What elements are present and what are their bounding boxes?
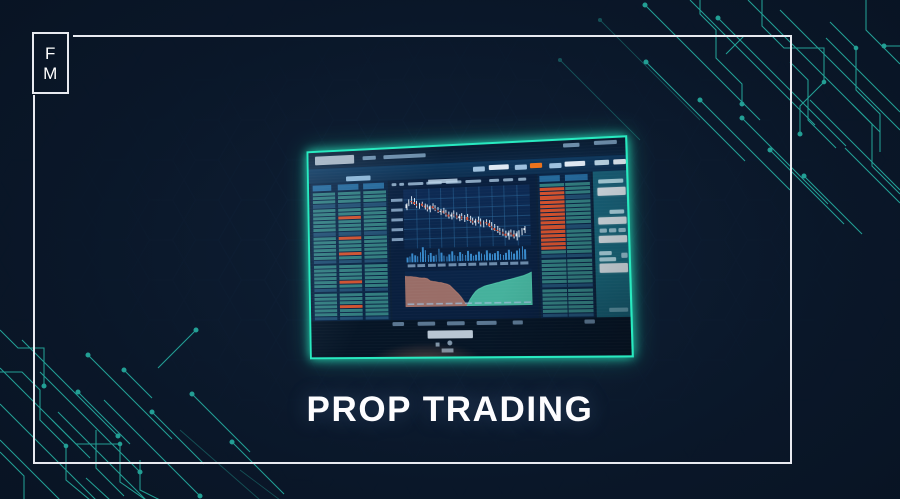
candlestick-body (507, 233, 509, 236)
candlestick-body (502, 232, 504, 234)
order-book-row (567, 245, 592, 249)
volume-bar (457, 256, 459, 261)
x-axis-tick-label (500, 262, 508, 265)
order-book-row (365, 272, 388, 276)
volume-bar (505, 252, 507, 260)
candlestick-body (485, 222, 487, 223)
order-book-row (365, 300, 388, 303)
volume-bar (486, 251, 488, 261)
order-quantity-input[interactable] (598, 216, 627, 224)
ticker-value-change (530, 163, 542, 169)
order-book-row (315, 313, 337, 316)
order-book-row (315, 297, 337, 300)
candlestick-body (437, 210, 439, 212)
candlestick-body (513, 235, 515, 237)
order-book-row (568, 279, 593, 283)
order-book-row (339, 260, 362, 264)
candlestick-body (411, 201, 412, 202)
order-book-column (540, 183, 568, 323)
order-book-row (568, 297, 593, 301)
order-book-row (340, 301, 363, 304)
area-x-tick-label (484, 302, 491, 304)
positions-panel[interactable] (311, 317, 632, 359)
ticker-value (564, 161, 585, 167)
order-book-right[interactable] (537, 172, 595, 318)
volume-bar (446, 256, 448, 261)
order-book-row (314, 277, 336, 281)
order-book-row (568, 288, 593, 292)
order-book-row (568, 284, 593, 288)
area-x-tick-label (514, 301, 521, 303)
order-book-row (567, 237, 592, 241)
order-book-row (314, 269, 336, 273)
x-axis-tick-label (448, 263, 456, 266)
candlestick-body (458, 216, 460, 218)
order-book-column (338, 191, 363, 325)
order-book-row (365, 276, 388, 280)
order-book-column-header (313, 185, 332, 192)
order-book-row (340, 284, 363, 288)
order-preset-button[interactable] (600, 228, 607, 232)
order-book-row (314, 289, 336, 292)
ticker-label (515, 164, 527, 170)
positions-tab[interactable] (584, 319, 595, 323)
candlestick-body (440, 211, 441, 212)
order-book-row (340, 313, 363, 316)
candlestick-body (416, 203, 418, 206)
order-book-row (543, 297, 568, 301)
area-x-tick-label (494, 302, 501, 304)
candlestick-body (475, 220, 477, 222)
order-book-row (314, 253, 336, 257)
area-x-tick-label (436, 303, 443, 305)
positions-search-input[interactable] (428, 330, 473, 339)
order-book-row (340, 289, 363, 292)
order-book-row (542, 284, 567, 288)
volume-chart (404, 243, 531, 263)
order-book-row (543, 310, 568, 314)
x-axis-tick-label (510, 262, 518, 265)
order-book-row (569, 309, 594, 313)
volume-bar (519, 248, 521, 259)
ticker-label (473, 166, 485, 172)
order-book-row (364, 251, 387, 255)
candlestick-body (413, 202, 414, 204)
volume-bar (441, 253, 443, 262)
order-book-row (541, 255, 566, 259)
candlestick-body (432, 207, 434, 209)
order-book-row (340, 293, 363, 296)
order-book-row (365, 288, 388, 292)
order-book-row (541, 246, 566, 250)
cumulative-area-chart[interactable] (405, 268, 533, 307)
price-chart-panel[interactable] (390, 174, 539, 320)
x-axis-tick-label (458, 263, 466, 266)
order-book-column (565, 182, 594, 323)
x-axis-tick-label (479, 262, 487, 265)
order-book-row (315, 305, 337, 308)
area-x-tick-label (524, 301, 531, 303)
ticker-value (489, 164, 509, 170)
candlestick-body (488, 223, 490, 226)
y-axis-tick-label (391, 208, 403, 211)
volume-bar (511, 252, 513, 260)
order-book-row (340, 309, 363, 312)
volume-bar (497, 251, 499, 260)
volume-bar (433, 256, 435, 262)
volume-bar (409, 256, 411, 262)
area-x-tick-label (455, 303, 462, 305)
volume-bar (451, 252, 453, 262)
order-book-row (365, 296, 388, 299)
order-book-column (363, 190, 388, 325)
volume-bar (430, 253, 432, 262)
order-book-row (339, 268, 362, 272)
volume-bar (414, 255, 416, 262)
order-book-row (541, 242, 566, 246)
candlestick-body (461, 216, 463, 219)
page-title: PROP TRADING (0, 390, 900, 430)
candlestick-body (477, 220, 479, 221)
volume-bar (454, 255, 456, 261)
area-x-tick-label (465, 302, 472, 304)
fm-logo: F M (32, 32, 69, 94)
order-book-column-header (363, 183, 384, 190)
volume-bar (513, 253, 515, 259)
order-book-row (365, 268, 388, 272)
order-info-button[interactable] (621, 253, 627, 258)
area-x-tick-label (475, 302, 482, 304)
volume-bar (407, 257, 409, 262)
order-book-row (567, 250, 592, 254)
fm-logo-letter-m: M (43, 65, 58, 82)
volume-bar (465, 255, 467, 261)
chart-interval-button[interactable] (518, 178, 526, 182)
order-book-row (365, 259, 388, 263)
order-book-row (568, 301, 593, 305)
order-book-row (340, 305, 363, 308)
order-book-row (339, 264, 362, 268)
order-book-row (315, 301, 337, 304)
order-panel-title (598, 179, 623, 184)
area-x-tick-label (427, 303, 434, 305)
x-axis-tick-label (418, 264, 426, 267)
volume-bar (484, 255, 486, 261)
order-book-row (364, 255, 387, 259)
x-axis-tick-label (438, 263, 446, 266)
y-axis-tick-label (392, 228, 404, 231)
candlestick-body (445, 213, 447, 215)
candlestick-body (421, 204, 422, 206)
order-book-row (314, 281, 336, 285)
submit-order-button[interactable] (599, 263, 628, 273)
volume-bar (425, 251, 427, 262)
terminal-menu-item (594, 140, 617, 145)
volume-bar (412, 254, 414, 263)
candlestick-body (426, 208, 427, 210)
positions-tab[interactable] (418, 322, 436, 326)
volume-bar (438, 249, 440, 262)
order-book-row (542, 276, 567, 280)
order-preset-button[interactable] (618, 228, 625, 232)
order-book-row (543, 301, 568, 305)
volume-bar (500, 254, 502, 260)
order-book-row (567, 258, 592, 262)
order-book-row (543, 305, 568, 309)
order-summary-label (599, 251, 612, 255)
candlestick-body (419, 204, 420, 206)
order-book-row (339, 272, 362, 276)
order-book-column-header (539, 175, 560, 182)
candlestick-body (434, 208, 436, 210)
candlestick-body (456, 215, 458, 218)
volume-bar (435, 254, 437, 261)
chart-tool-icon[interactable] (399, 183, 404, 187)
area-chart-svg (405, 268, 533, 307)
order-book-row (567, 262, 592, 266)
order-book-row (315, 309, 337, 312)
volume-bar (443, 255, 445, 261)
poster-canvas: F M (0, 0, 900, 499)
trading-terminal-image (307, 135, 634, 359)
order-book-row (542, 280, 567, 284)
volume-bar (521, 246, 523, 259)
order-book-row (314, 293, 336, 296)
candlestick-chart[interactable] (403, 184, 531, 248)
order-field-label (609, 209, 624, 213)
candlestick-body (405, 205, 407, 209)
order-book-left[interactable] (311, 181, 391, 322)
order-book-row (568, 292, 593, 296)
chart-interval-button[interactable] (503, 178, 513, 182)
positions-tab[interactable] (477, 321, 497, 325)
positions-tab-bar[interactable] (392, 320, 541, 327)
positions-tab[interactable] (513, 320, 523, 324)
y-axis-tick-label (391, 199, 403, 202)
order-book-row (542, 267, 567, 271)
hand-silhouette (368, 342, 486, 359)
frame-border-bottom (33, 462, 792, 464)
ticker-value (613, 159, 626, 165)
order-total-input[interactable] (599, 235, 628, 243)
volume-bar (478, 252, 480, 261)
order-book-row (314, 285, 336, 288)
order-summary-label (599, 257, 616, 261)
order-book-column-header (565, 174, 588, 181)
order-book-row (366, 313, 389, 316)
order-book-row (567, 267, 592, 271)
order-book-row (567, 241, 592, 245)
fm-logo-letter-f: F (45, 45, 56, 62)
volume-bar (428, 255, 430, 262)
ticker-label (549, 163, 561, 169)
volume-bar (494, 253, 496, 260)
volume-bar (524, 249, 526, 259)
order-book-row (314, 265, 336, 269)
order-book-row (339, 256, 362, 260)
candlestick-body (494, 228, 496, 230)
x-axis-tick-label (428, 264, 436, 267)
trading-terminal-screen (307, 135, 634, 359)
candlestick-body (408, 201, 410, 205)
area-x-tick-label (446, 303, 453, 305)
order-book-row (542, 259, 567, 263)
volume-bar (503, 255, 505, 260)
chart-interval-button[interactable] (489, 179, 499, 183)
volume-bar (489, 253, 491, 261)
order-book-row (365, 304, 388, 307)
candlestick-body (448, 215, 450, 217)
order-book-row (314, 261, 336, 265)
order-book-row (365, 292, 388, 295)
order-book-row (339, 276, 362, 280)
volume-bar (481, 253, 483, 261)
terminal-menu-item (563, 143, 580, 148)
candlestick-body (464, 217, 466, 219)
volume-bar (459, 252, 461, 261)
candlestick-body (510, 233, 512, 235)
volume-bar (470, 253, 472, 261)
candlestick-body (505, 234, 507, 236)
order-book-row (542, 272, 567, 276)
volume-bar (508, 250, 510, 260)
volume-bar (492, 254, 494, 260)
order-price-input[interactable] (597, 187, 626, 196)
terminal-logo-chip (315, 155, 354, 166)
frame-border-top (73, 35, 792, 37)
terminal-menu-item (363, 156, 376, 161)
x-axis-tick-label (521, 261, 529, 264)
volume-bar (420, 252, 422, 262)
candlestick-body (518, 232, 520, 234)
positions-tab[interactable] (392, 322, 404, 326)
order-book-row (568, 271, 593, 275)
volume-bar (473, 256, 475, 261)
candlestick-body (516, 234, 518, 237)
order-book-row (314, 257, 336, 261)
volume-bar (467, 251, 469, 261)
volume-bar (462, 254, 464, 261)
order-book-column-header (338, 184, 359, 191)
order-book-row (314, 249, 336, 253)
order-book-row (339, 280, 362, 284)
order-book-row (340, 297, 363, 300)
x-axis-tick-label (489, 262, 497, 265)
order-book-row (568, 305, 593, 309)
chart-tool-icon[interactable] (392, 183, 397, 187)
order-book-column (313, 192, 338, 325)
y-axis-tick-label (392, 238, 404, 241)
area-series (405, 275, 467, 307)
candlestick-body (483, 222, 485, 224)
volume-bar (516, 251, 518, 260)
ticker-label (594, 160, 609, 166)
order-book-row (365, 308, 388, 311)
order-book-row (541, 250, 566, 254)
volume-bar (422, 247, 424, 262)
volume-bar (449, 254, 451, 262)
order-book-row (568, 275, 593, 279)
candlestick-body (499, 231, 501, 232)
area-x-tick-label (417, 303, 424, 305)
order-book-row (339, 252, 362, 256)
order-entry-panel[interactable] (593, 170, 633, 317)
volume-bar (475, 254, 477, 260)
candlestick-body (480, 221, 482, 224)
area-x-tick-label (408, 303, 415, 305)
volume-bar (417, 256, 419, 262)
area-x-tick-label (504, 302, 511, 304)
order-book-row (542, 293, 567, 297)
order-book-row (542, 289, 567, 293)
candlestick-body (450, 215, 452, 217)
order-panel-footer (609, 308, 628, 312)
order-book-row (541, 238, 566, 242)
x-axis-tick-label (408, 264, 416, 267)
terminal-body (309, 170, 631, 321)
terminal-menu-item (383, 153, 425, 159)
order-book-row (314, 273, 336, 277)
candlestick-body (469, 220, 471, 221)
candlestick-body (467, 217, 469, 220)
chart-ohlc-value (465, 179, 481, 183)
candlestick-body (453, 214, 454, 215)
order-book-row (542, 263, 567, 267)
order-book-row (567, 254, 592, 258)
order-book-row (365, 280, 388, 284)
candlestick-body (524, 228, 526, 230)
candlestick-body (472, 221, 474, 223)
order-preset-button[interactable] (609, 228, 616, 232)
x-axis-tick-label (469, 263, 477, 266)
candlestick-body (521, 230, 523, 232)
candlestick-body (429, 207, 431, 210)
positions-tab[interactable] (447, 321, 465, 325)
candlestick-body (496, 229, 498, 231)
y-axis-tick-label (391, 218, 403, 221)
candlestick-body (424, 206, 425, 208)
candlestick-body (491, 226, 493, 228)
chart-ohlc-value (408, 182, 424, 186)
order-book-row (365, 264, 388, 268)
order-book-row (365, 284, 388, 288)
candlestick-body (442, 211, 444, 213)
area-series (467, 272, 533, 306)
